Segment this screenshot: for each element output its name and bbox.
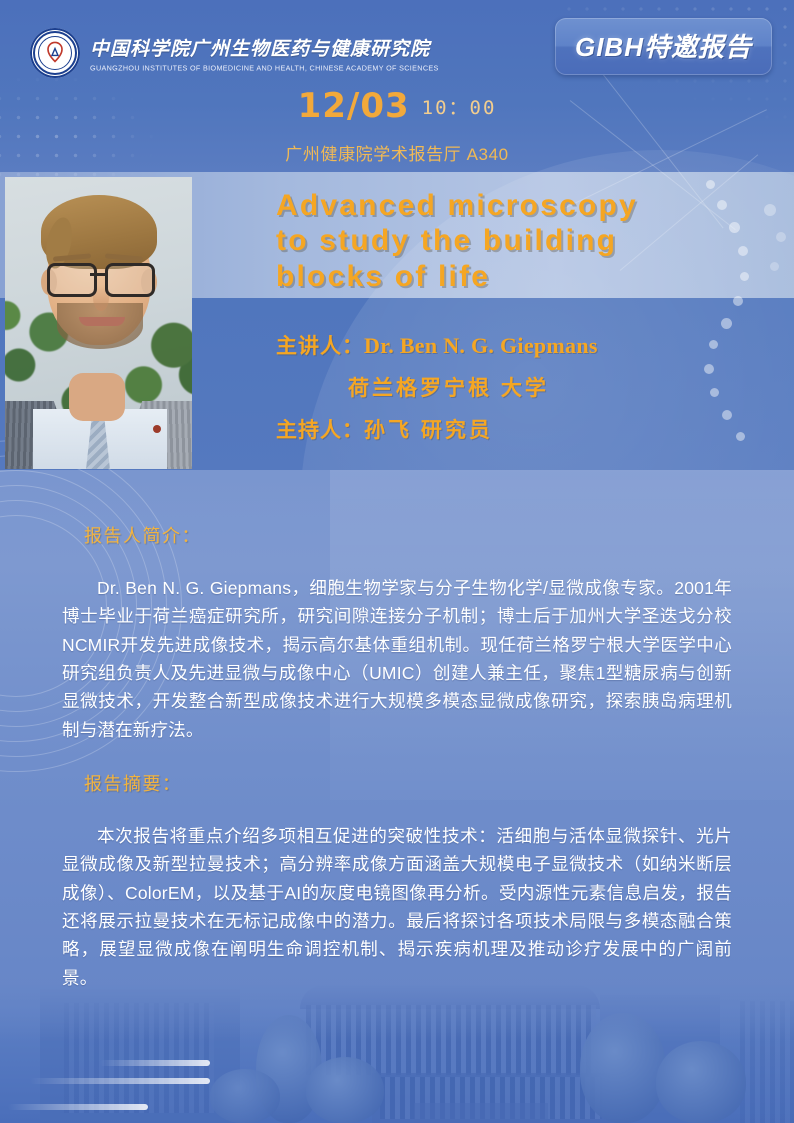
content-sections: 报告人简介： Dr. Ben N. G. Giepmans，细胞生物学家与分子生… (0, 470, 794, 1010)
talk-title-line-3: blocks of life (276, 259, 776, 294)
abstract-text: 本次报告将重点介绍多项相互促进的突破性技术：活细胞与活体显微探针、光片显微成像及… (62, 822, 732, 992)
host-label: 主持人： (276, 419, 364, 442)
seminar-badge: GIBH特邀报告 (555, 18, 772, 75)
poster-root: 中国科学院广州生物医药与健康研究院 GUANGZHOU INSTITUTES O… (0, 0, 794, 1123)
institute-name-en: GUANGZHOU INSTITUTES OF BIOMEDICINE AND … (90, 63, 439, 73)
institute-name-cn: 中国科学院广州生物医药与健康研究院 (90, 34, 439, 61)
speaker-row: 主讲人：Dr. Ben N. G. Giepmans (276, 330, 776, 360)
gibh-logo-icon (30, 28, 80, 78)
speaker-affiliation: 荷兰格罗宁根 大学 (348, 377, 549, 400)
affiliation-row: 荷兰格罗宁根 大学 (276, 372, 776, 402)
speaker-portrait-photo (5, 177, 192, 469)
talk-title-line-2: to study the building (276, 223, 776, 258)
event-datetime: 12/0310：00 (0, 86, 794, 126)
institute-logo: 中国科学院广州生物医药与健康研究院 GUANGZHOU INSTITUTES O… (30, 28, 439, 78)
streak-lines-decoration (0, 1060, 260, 1123)
speaker-label: 主讲人： (276, 335, 364, 358)
event-time: 10：00 (422, 97, 497, 119)
abstract-heading: 报告摘要： (84, 770, 182, 796)
speaker-name: Dr. Ben N. G. Giepmans (364, 333, 598, 358)
host-name: 孙飞 研究员 (364, 419, 493, 442)
dot-grid-pattern-bottom-left (0, 1040, 240, 1123)
bio-text: Dr. Ben N. G. Giepmans，细胞生物学家与分子生物化学/显微成… (62, 574, 732, 744)
seminar-badge-label: GIBH特邀报告 (575, 27, 752, 64)
speaker-info: 主讲人：Dr. Ben N. G. Giepmans 荷兰格罗宁根 大学 主持人… (276, 330, 776, 456)
event-date: 12/03 (298, 86, 410, 126)
talk-title-line-1: Advanced microscopy (276, 188, 776, 223)
event-venue: 广州健康院学术报告厅 A340 (0, 140, 794, 165)
talk-title: Advanced microscopy to study the buildin… (276, 188, 776, 294)
host-row: 主持人：孙飞 研究员 (276, 414, 776, 444)
bio-heading: 报告人简介： (84, 522, 201, 548)
